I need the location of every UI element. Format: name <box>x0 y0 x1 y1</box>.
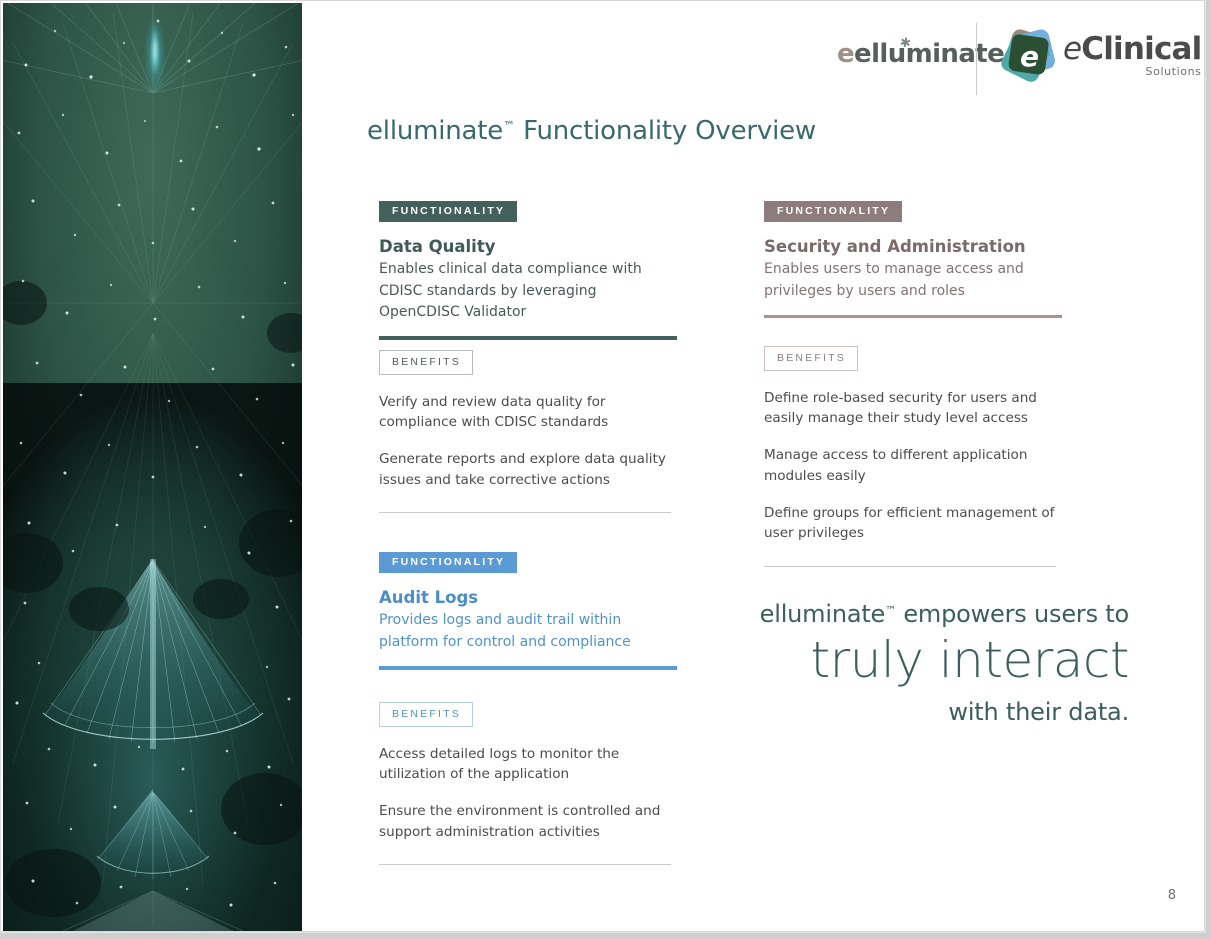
tagline-line-1: elluminate™ empowers users to <box>641 601 1129 627</box>
page-title-rest: Functionality Overview <box>515 116 816 146</box>
functionality-subtitle: Provides logs and audit trail within pla… <box>379 610 677 653</box>
slide: eelluminate ✱ e eClinical Solutions <box>0 0 1205 932</box>
eclinical-wordmark: eClinical Solutions <box>1063 34 1202 77</box>
elluminate-spark-icon: ✱ <box>899 36 912 49</box>
benefit-item: Verify and review data quality for compl… <box>379 392 671 433</box>
header-logo-bar: eelluminate ✱ e eClinical Solutions <box>821 11 1201 96</box>
tagline-line-1-rest: empowers users to <box>896 600 1129 628</box>
benefits-block-audit-logs: BENEFITS Access detailed logs to monitor… <box>379 702 671 865</box>
elluminate-logo-text: elluminate <box>854 39 1004 69</box>
benefit-item: Generate reports and explore data qualit… <box>379 449 671 490</box>
functionality-tag: FUNCTIONALITY <box>379 201 517 222</box>
benefit-item: Define role-based security for users and… <box>764 388 1056 429</box>
functionality-heading: Data Quality <box>379 237 677 257</box>
functionality-block-audit-logs: FUNCTIONALITY Audit Logs Provides logs a… <box>379 552 677 670</box>
benefits-block-data-quality: BENEFITS Verify and review data quality … <box>379 350 671 513</box>
functionality-tag: FUNCTIONALITY <box>764 201 902 222</box>
page-number: 8 <box>1168 888 1176 903</box>
benefit-item: Manage access to different application m… <box>764 445 1056 486</box>
benefits-block-security-administration: BENEFITS Define role-based security for … <box>764 346 1056 567</box>
benefits-divider <box>379 864 671 865</box>
page-title-brand: elluminate <box>367 116 503 146</box>
benefit-item: Ensure the environment is controlled and… <box>379 801 671 842</box>
benefits-tag: BENEFITS <box>379 702 473 727</box>
accent-rule <box>379 666 677 670</box>
accent-rule <box>764 315 1062 318</box>
benefits-divider <box>379 512 671 513</box>
tagline-trademark: ™ <box>885 604 896 617</box>
eclinical-logo: e eClinical Solutions <box>1001 27 1202 83</box>
functionality-subtitle: Enables users to manage access and privi… <box>764 259 1062 302</box>
tagline-line-3: with their data. <box>641 698 1129 727</box>
elluminate-logo: eelluminate <box>837 41 1004 67</box>
benefits-divider <box>764 566 1056 567</box>
benefits-tag: BENEFITS <box>379 350 473 375</box>
benefit-item: Access detailed logs to monitor the util… <box>379 744 671 785</box>
network-graphic <box>3 3 302 931</box>
page-title: elluminate™ Functionality Overview <box>367 116 816 146</box>
functionality-tag: FUNCTIONALITY <box>379 552 517 573</box>
page-title-trademark: ™ <box>503 119 515 133</box>
eclinical-logo-e: e <box>1063 31 1081 67</box>
benefits-tag: BENEFITS <box>764 346 858 371</box>
tagline-line-2: truly interact <box>641 629 1129 692</box>
functionality-block-security-administration: FUNCTIONALITY Security and Administratio… <box>764 201 1062 318</box>
tagline-brand: elluminate <box>760 600 885 628</box>
functionality-subtitle: Enables clinical data compliance with CD… <box>379 259 677 323</box>
hero-network-visualization-image <box>3 3 302 931</box>
svg-text:e: e <box>1020 40 1039 73</box>
functionality-block-data-quality: FUNCTIONALITY Data Quality Enables clini… <box>379 201 677 340</box>
eclinical-logo-sub: Solutions <box>1063 66 1202 77</box>
elluminate-logo-e: e <box>837 39 854 69</box>
functionality-heading: Audit Logs <box>379 588 677 608</box>
logo-divider <box>976 23 977 95</box>
eclinical-logo-main: Clinical <box>1081 31 1201 67</box>
functionality-heading: Security and Administration <box>764 237 1062 257</box>
eclinical-diamond-icon: e <box>1001 27 1057 83</box>
tagline: elluminate™ empowers users to truly inte… <box>641 601 1129 727</box>
benefit-item: Define groups for efficient management o… <box>764 503 1056 544</box>
accent-rule <box>379 336 677 340</box>
